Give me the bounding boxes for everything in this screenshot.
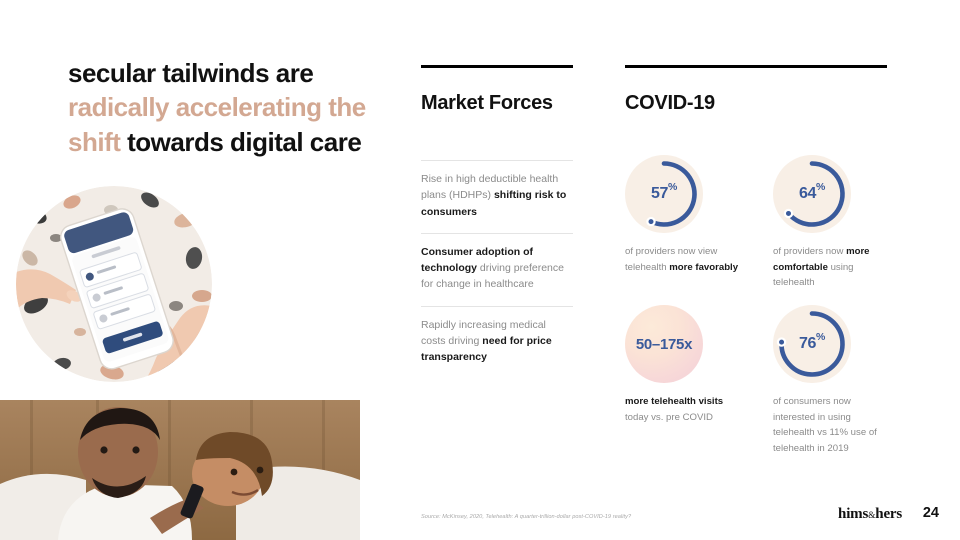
title-line-3-rest: towards digital care — [120, 127, 361, 157]
market-forces-item: Rise in high deductible health plans (HD… — [421, 160, 573, 233]
market-forces-list: Rise in high deductible health plans (HD… — [421, 160, 573, 378]
stat-1-caption-pre: of providers now — [773, 246, 846, 257]
title-line-1: secular tailwinds are — [68, 58, 313, 88]
donut-gauge: 76% — [773, 305, 851, 383]
terrazzo-phone-illustration — [16, 186, 212, 382]
logo-hims: hims — [838, 506, 868, 522]
couple-in-bed-illustration — [0, 400, 360, 540]
donut-value: 76% — [773, 305, 851, 383]
stat-card: 64% of providers now more comfortable us… — [773, 155, 923, 291]
market-forces-item: Rapidly increasing medical costs driving… — [421, 306, 573, 379]
stat-3-value: 76 — [799, 335, 816, 353]
donut-gauge: 64% — [773, 155, 851, 233]
stat-caption: of providers now view telehealth more fa… — [625, 244, 740, 275]
source-note: Source: McKinsey, 2020, Telehealth: A qu… — [421, 514, 631, 520]
brand-logo: hims&hers — [838, 506, 902, 523]
stat-card: 50–175x more telehealth visits today vs.… — [625, 305, 775, 425]
stat-caption: of providers now more comfortable using … — [773, 244, 888, 291]
multiplier-circle: 50–175x — [625, 305, 703, 383]
stat-1-value: 64 — [799, 185, 816, 203]
stat-caption: more telehealth visits today vs. pre COV… — [625, 394, 740, 425]
market-forces-item: Consumer adoption of technology driving … — [421, 233, 573, 306]
market-forces-heading: Market Forces — [421, 92, 553, 115]
phone-on-terrazzo-photo — [16, 186, 212, 382]
page-number: 24 — [923, 505, 939, 521]
stat-caption: of consumers now interested in using tel… — [773, 394, 888, 456]
stat-0-caption-bold: more favorably — [669, 262, 738, 273]
donut-gauge: 57% — [625, 155, 703, 233]
stat-3-unit: % — [816, 331, 825, 343]
stat-0-value: 57 — [651, 185, 668, 203]
title-line-3-accent: shift — [68, 127, 120, 157]
market-forces-rule — [421, 65, 573, 68]
logo-hers: hers — [875, 506, 902, 522]
stat-card: 57% of providers now view telehealth mor… — [625, 155, 775, 275]
stat-2-value: 50–175x — [636, 336, 692, 353]
covid-rule — [625, 65, 887, 68]
slide-title: secular tailwinds are radically accelera… — [68, 56, 398, 159]
couple-with-phone-photo — [0, 400, 360, 540]
stat-3-caption-pre: of consumers now interested in using tel… — [773, 396, 877, 454]
stat-1-unit: % — [816, 181, 825, 193]
covid-heading: COVID-19 — [625, 92, 715, 115]
donut-value: 64% — [773, 155, 851, 233]
stat-card: 76% of consumers now interested in using… — [773, 305, 923, 456]
donut-value: 57% — [625, 155, 703, 233]
title-line-2-accent: radically accelerating the — [68, 92, 366, 122]
stat-2-caption-post: today vs. pre COVID — [625, 412, 713, 423]
stat-2-caption-bold: more telehealth visits — [625, 396, 723, 407]
stat-0-unit: % — [668, 181, 677, 193]
